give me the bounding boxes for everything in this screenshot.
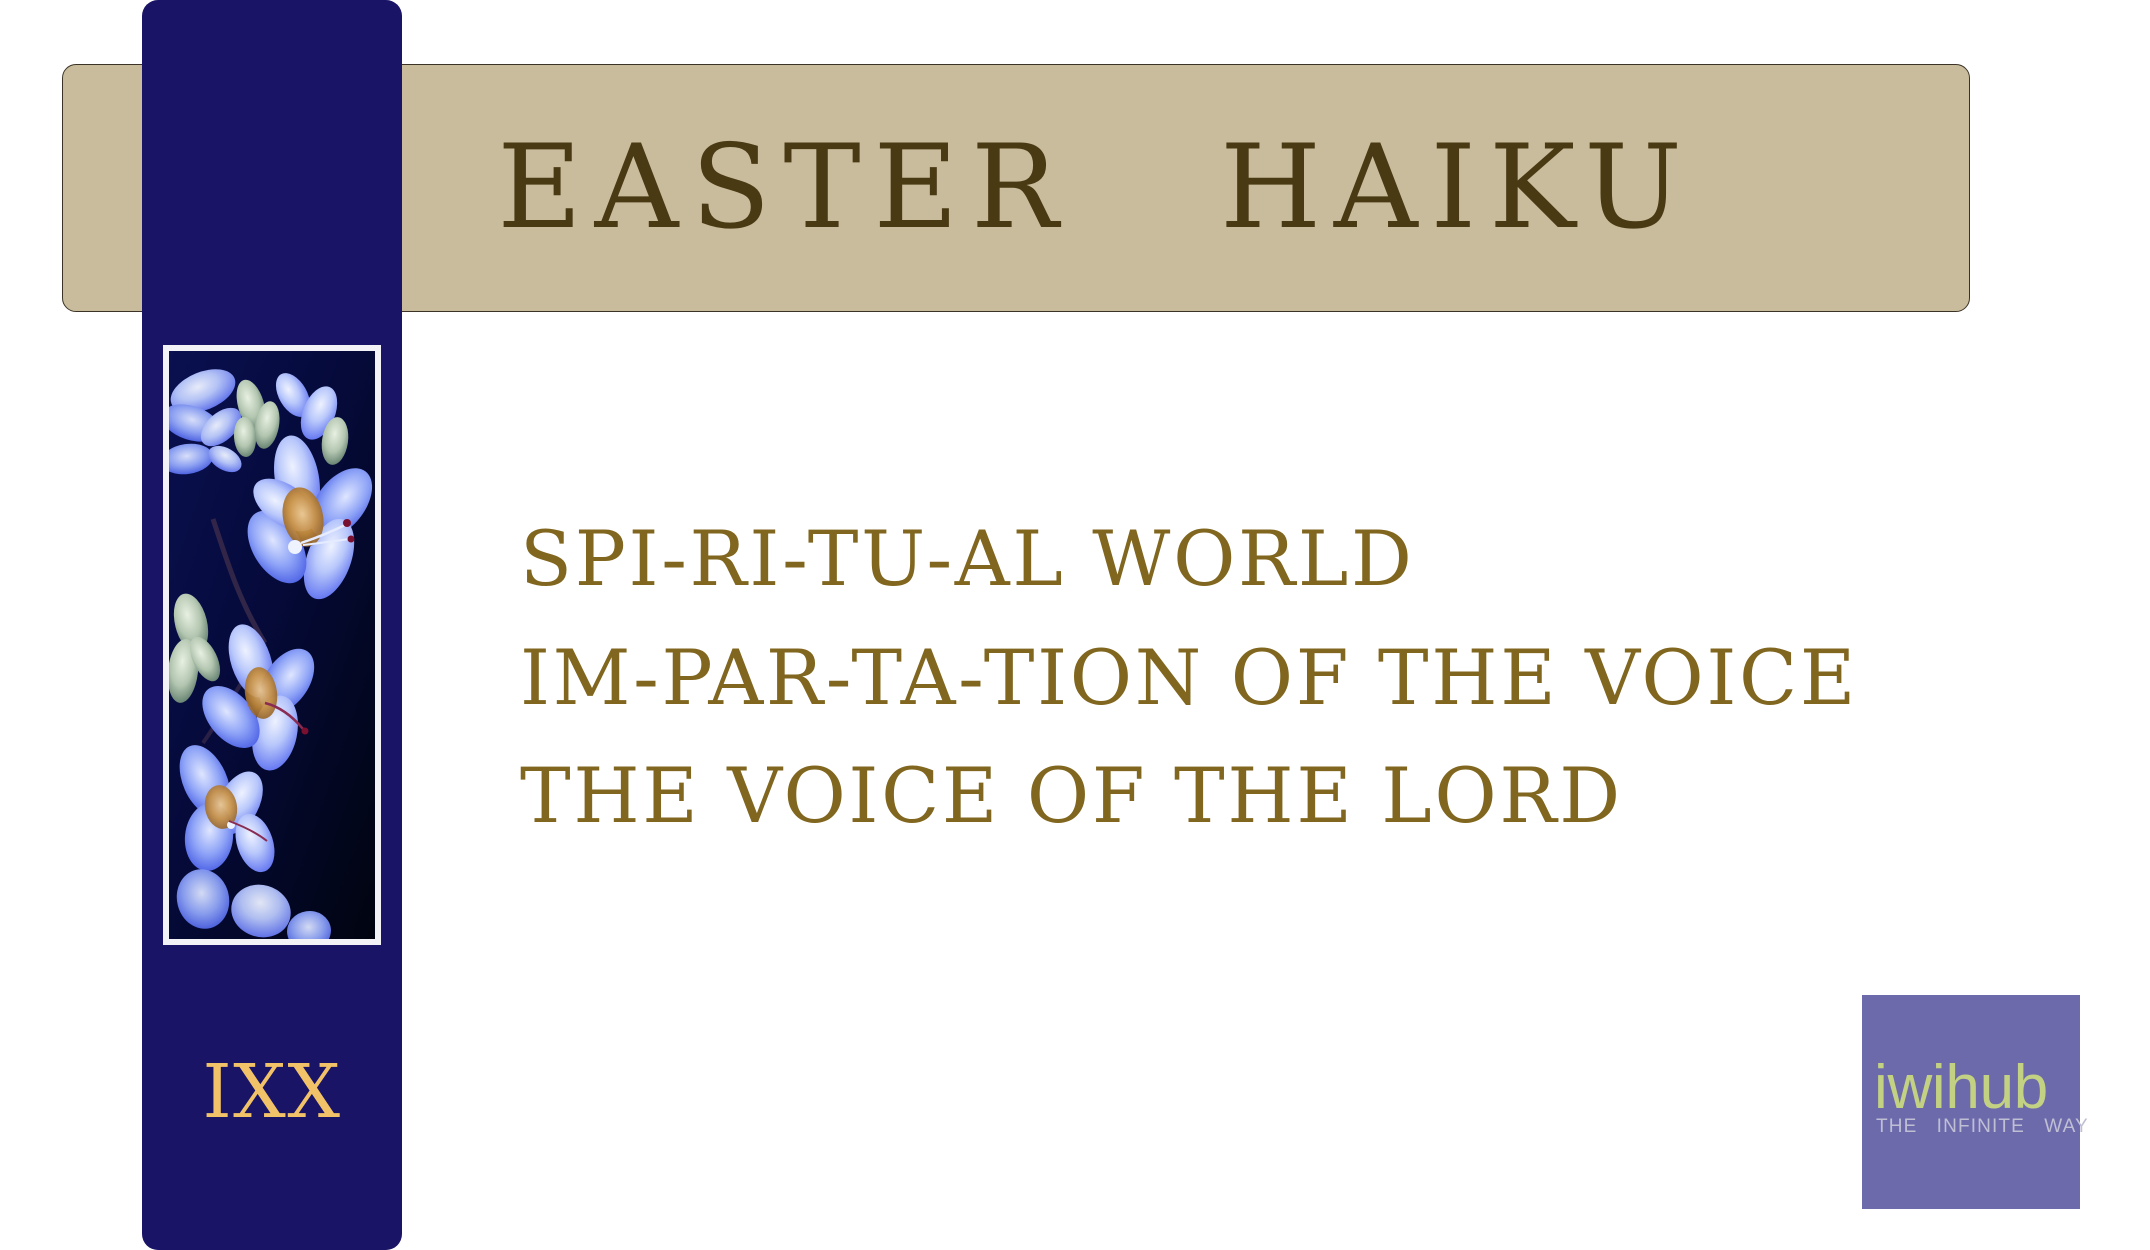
- haiku-line-3: THE VOICE OF THE LORD: [520, 737, 1940, 856]
- slide-canvas: EASTER HAIKU: [0, 0, 2150, 1250]
- haiku-line-2: IM-PAR-TA-TION OF THE VOICE: [520, 619, 1940, 738]
- haiku-line-1: SPI-RI-TU-AL WORLD: [520, 500, 1940, 619]
- logo-wordmark: iwihub: [1874, 1057, 2048, 1119]
- logo-tagline: THE INFINITE WAY: [1876, 1117, 2089, 1136]
- slide-number: IXX: [142, 1055, 402, 1129]
- haiku-body: SPI-RI-TU-AL WORLD IM-PAR-TA-TION OF THE…: [520, 500, 1940, 856]
- flower-photo-artwork: [169, 351, 375, 939]
- iwihub-logo: iwihub THE INFINITE WAY: [1862, 995, 2080, 1209]
- flower-photo: [163, 345, 381, 945]
